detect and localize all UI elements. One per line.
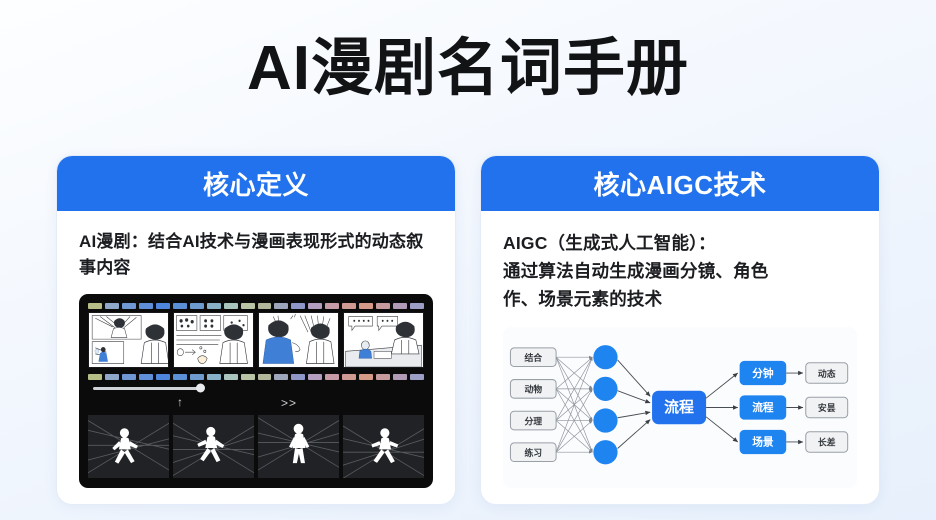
perforation-row-top [85,300,427,309]
flow-diagram-media: 结合 动物 分理 练习 [503,327,857,488]
film-perforation [342,303,356,309]
comic-panel-row [85,309,427,371]
film-perforation [122,303,136,309]
card-core-aigc-tech: 核心AIGC技术 AIGC（生成式人工智能）： 通过算法自动生成漫画分镜、角色 … [480,155,880,505]
walk-frame [343,415,424,478]
slider-track[interactable] [93,387,201,390]
film-perforation [190,303,204,309]
walk-frame [258,415,339,478]
perforation-row-bottom [85,371,427,380]
flow-output-node: 动态 [806,363,848,383]
comic-panel-art-icon [174,313,253,367]
card-body-core-definition: AI漫剧：结合AI技术与漫画表现形式的动态叙事内容 [57,211,455,504]
film-perforation [308,303,322,309]
card-text-core-definition: AI漫剧：结合AI技术与漫画表现形式的动态叙事内容 [79,229,433,282]
film-perforation [156,303,170,309]
flow-hidden-node [593,345,617,369]
up-arrow-icon: ↑ [177,395,183,409]
card-header-core-definition: 核心定义 [57,156,455,211]
fast-forward-icon: >> [281,396,297,410]
walk-frame [173,415,254,478]
film-perforation [325,303,339,309]
card-body-core-aigc-tech: AIGC（生成式人工智能）： 通过算法自动生成漫画分镜、角色 作、场景元素的技术 [481,211,879,504]
flow-output-label: 动态 [818,368,836,379]
flow-diagram: 结合 动物 分理 练习 [503,327,857,488]
film-perforation [207,303,221,309]
comic-panel-art-icon [344,313,423,367]
comic-panel [173,312,254,368]
flow-input-node: 动物 [510,380,556,399]
flow-stage-label: 分钟 [752,367,774,380]
walking-figure-icon [88,415,169,478]
card-text-line: 通过算法自动生成漫画分镜、角色 [503,257,857,285]
film-perforation [224,303,238,309]
flow-center-node: 流程 [652,391,706,425]
flow-input-label: 动物 [524,384,542,395]
film-perforation [105,303,119,309]
film-perforation [291,303,305,309]
film-perforation [410,303,424,309]
walking-figure-icon [343,415,424,478]
film-strip [85,300,427,380]
card-text-line: 作、场景元素的技术 [503,285,857,313]
walking-figure-icon [258,415,339,478]
film-perforation [393,303,407,309]
flow-output-label: 长差 [818,437,836,448]
flow-input-label: 分理 [524,415,542,426]
flow-input-label: 结合 [523,352,542,363]
page-title: AI漫剧名词手册 [0,36,936,101]
flow-stage-node: 流程 [740,395,787,419]
comic-panel [343,312,424,368]
card-text-line: AIGC（生成式人工智能）： [503,229,857,257]
film-perforation [258,303,272,309]
flow-stage-node: 分钟 [740,361,787,385]
flow-stage-node: 场景 [740,430,787,454]
film-perforation [88,303,102,309]
film-perforation [376,303,390,309]
flow-input-node: 结合 [510,348,556,367]
comic-panel-art-icon [89,313,168,367]
slider-knob[interactable] [196,384,205,393]
flow-input-node: 分理 [510,411,556,430]
flow-output-node: 安昙 [806,397,848,417]
flow-center-label: 流程 [664,398,694,416]
flow-input-node: 练习 [510,443,556,462]
filmstrip-walkcycle-media: ↑ >> [79,294,433,488]
film-perforation [241,303,255,309]
flow-output-label: 安昙 [818,402,836,413]
playback-slider[interactable] [85,380,427,397]
walking-figure-icon [173,415,254,478]
comic-panel [258,312,339,368]
flow-hidden-node [593,408,617,432]
film-perforation [274,303,288,309]
flow-hidden-node [593,377,617,401]
card-header-core-aigc-tech: 核心AIGC技术 [481,156,879,211]
timeline-marks: ↑ >> [85,397,427,413]
flow-output-node: 长差 [806,432,848,452]
comic-panel-art-icon [259,313,338,367]
flow-hidden-node [593,440,617,464]
film-perforation [139,303,153,309]
comic-panel [88,312,169,368]
flow-stage-label: 场景 [752,436,774,449]
flow-stage-label: 流程 [752,401,774,414]
film-perforation [173,303,187,309]
walk-frame [88,415,169,478]
cards-container: 核心定义 AI漫剧：结合AI技术与漫画表现形式的动态叙事内容 [56,155,880,505]
film-perforation [359,303,373,309]
flow-input-label: 练习 [524,447,542,458]
card-text-core-aigc-tech: AIGC（生成式人工智能）： 通过算法自动生成漫画分镜、角色 作、场景元素的技术 [503,229,857,313]
card-core-definition: 核心定义 AI漫剧：结合AI技术与漫画表现形式的动态叙事内容 [56,155,456,505]
walk-cycle-row [85,413,427,482]
